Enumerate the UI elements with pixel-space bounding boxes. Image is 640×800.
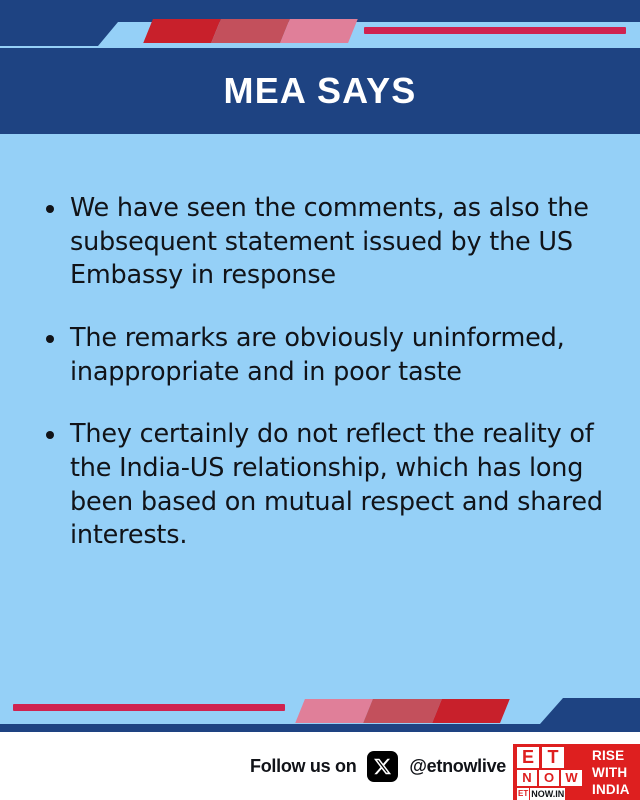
tagline-line-3: INDIA	[592, 783, 640, 797]
social-handle[interactable]: @etnowlive	[409, 756, 506, 777]
tagline-line-2: WITH	[592, 766, 640, 780]
bullet-text: They certainly do not reflect the realit…	[70, 418, 610, 553]
logo-letter-e: E	[517, 747, 539, 768]
tagline-line-1: RISE	[592, 749, 640, 763]
stripe-segment-pink	[280, 19, 358, 43]
url-prefix: ET	[517, 788, 529, 800]
stripe-segment-dark-red	[432, 699, 510, 723]
title-bar: MEA SAYS	[0, 48, 640, 134]
bullet-dot-icon	[46, 205, 54, 213]
bullet-dot-icon	[46, 335, 54, 343]
page-title: MEA SAYS	[224, 70, 417, 112]
follow-label: Follow us on	[250, 756, 356, 777]
bullet-list: We have seen the comments, as also the s…	[46, 192, 610, 553]
bullet-text: The remarks are obviously uninformed, in…	[70, 322, 610, 389]
etnow-et-row: E T	[517, 747, 582, 768]
stripe-segment-dark-red	[143, 19, 221, 43]
bullet-text: We have seen the comments, as also the s…	[70, 192, 610, 293]
infographic-card: MEA SAYS We have seen the comments, as a…	[0, 0, 640, 800]
etnow-tagline: RISE WITH INDIA	[585, 744, 640, 800]
top-decorative-band	[0, 0, 640, 46]
list-item: The remarks are obviously uninformed, in…	[46, 322, 610, 389]
top-crimson-rule	[364, 27, 626, 34]
logo-letter-w: W	[561, 770, 582, 786]
stripe-segment-mid-red	[363, 699, 441, 723]
logo-letter-n: N	[517, 770, 537, 786]
body-content: We have seen the comments, as also the s…	[0, 134, 640, 686]
bullet-dot-icon	[46, 431, 54, 439]
top-red-gradient-stripe	[143, 19, 358, 43]
etnow-logo[interactable]: E T N O W ET NOW.IN RISE WITH INDIA	[513, 744, 640, 800]
list-item: They certainly do not reflect the realit…	[46, 418, 610, 553]
bottom-red-gradient-stripe	[295, 699, 510, 723]
logo-letter-o: O	[539, 770, 559, 786]
x-twitter-icon[interactable]	[367, 751, 398, 782]
etnow-now-row: N O W	[517, 770, 582, 786]
list-item: We have seen the comments, as also the s…	[46, 192, 610, 293]
etnow-logo-mark: E T N O W ET NOW.IN	[513, 744, 585, 800]
bottom-crimson-rule	[13, 704, 285, 711]
etnow-website-url: ET NOW.IN	[517, 788, 582, 800]
stripe-segment-pink	[295, 699, 373, 723]
stripe-segment-mid-red	[211, 19, 289, 43]
logo-letter-t: T	[542, 747, 564, 768]
url-rest: NOW.IN	[530, 788, 565, 800]
